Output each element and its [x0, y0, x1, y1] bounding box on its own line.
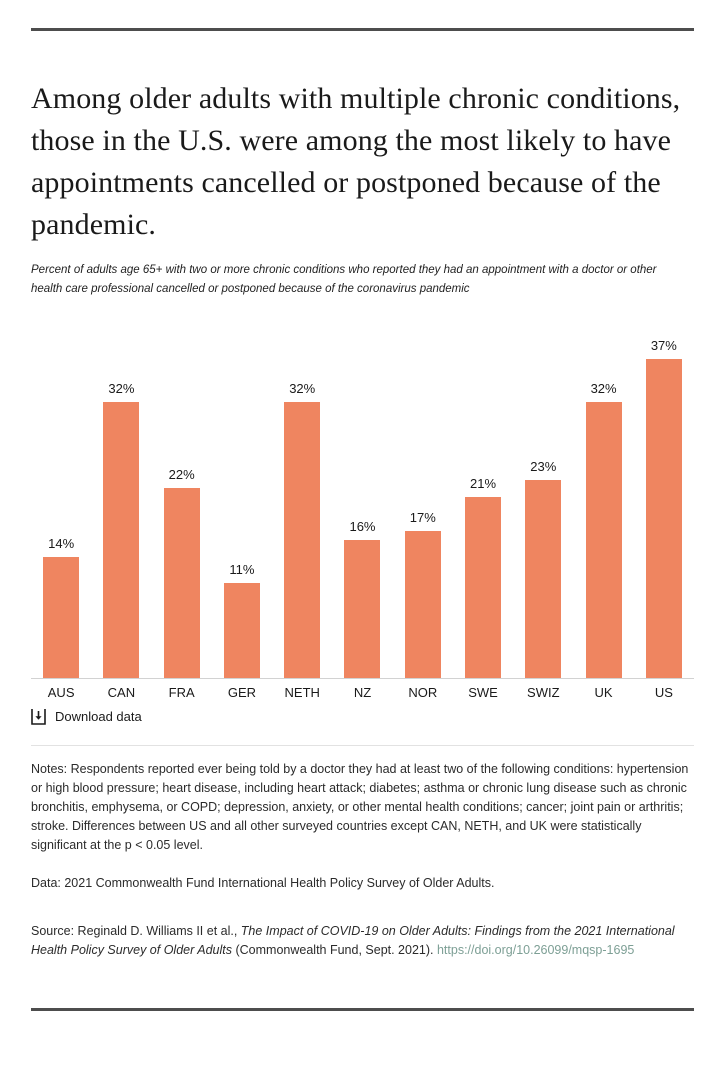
bar[interactable] [646, 359, 682, 678]
bar-group: 22% [152, 330, 212, 678]
bar[interactable] [344, 540, 380, 678]
x-tick-neth: NETH [272, 685, 332, 701]
bottom-divider [31, 1008, 694, 1011]
bar-value-label: 32% [289, 381, 315, 396]
download-data-label: Download data [55, 709, 142, 724]
x-tick-nz: NZ [332, 685, 392, 701]
x-tick-us: US [634, 685, 694, 701]
download-data-button[interactable]: Download data [31, 708, 142, 725]
bar-group: 17% [393, 330, 453, 678]
bar-value-label: 23% [530, 459, 556, 474]
download-icon [31, 708, 46, 725]
chart-notes: Notes: Respondents reported ever being t… [31, 760, 691, 855]
chart-subtitle: Percent of adults age 65+ with two or mo… [31, 261, 671, 298]
x-tick-nor: NOR [393, 685, 453, 701]
x-tick-swiz: SWIZ [513, 685, 573, 701]
bar-group: 11% [212, 330, 272, 678]
bar[interactable] [284, 402, 320, 678]
bar[interactable] [224, 583, 260, 678]
citation-suffix: (Commonwealth Fund, Sept. 2021). [232, 943, 437, 957]
bar-value-label: 16% [349, 519, 375, 534]
page-title: Among older adults with multiple chronic… [31, 78, 681, 246]
bar-value-label: 32% [108, 381, 134, 396]
bar-value-label: 11% [229, 562, 254, 577]
x-tick-aus: AUS [31, 685, 91, 701]
bar[interactable] [103, 402, 139, 678]
bar-series: 14%32%22%11%32%16%17%21%23%32%37% [31, 330, 694, 678]
bar-group: 32% [91, 330, 151, 678]
bar-chart: 14%32%22%11%32%16%17%21%23%32%37% AUSCAN… [31, 330, 694, 710]
chart-page: Among older adults with multiple chronic… [0, 0, 725, 1072]
bar[interactable] [586, 402, 622, 678]
x-tick-ger: GER [212, 685, 272, 701]
x-tick-swe: SWE [453, 685, 513, 701]
bar[interactable] [465, 497, 501, 678]
x-tick-fra: FRA [152, 685, 212, 701]
bar-group: 23% [513, 330, 573, 678]
bar-value-label: 17% [410, 510, 436, 525]
bar-value-label: 21% [470, 476, 496, 491]
bar-group: 37% [634, 330, 694, 678]
bar[interactable] [43, 557, 79, 678]
bar-group: 16% [332, 330, 392, 678]
bar[interactable] [405, 531, 441, 678]
bar-value-label: 32% [591, 381, 617, 396]
chart-citation: Source: Reginald D. Williams II et al., … [31, 922, 681, 960]
citation-prefix: Source: Reginald D. Williams II et al., [31, 924, 241, 938]
plot-area: 14%32%22%11%32%16%17%21%23%32%37% [31, 330, 694, 678]
bar-group: 14% [31, 330, 91, 678]
doi-link[interactable]: https://doi.org/10.26099/mqsp-1695 [437, 943, 634, 957]
x-tick-uk: UK [573, 685, 633, 701]
chart-data-source: Data: 2021 Commonwealth Fund Internation… [31, 874, 691, 893]
bar-group: 32% [272, 330, 332, 678]
bar[interactable] [164, 488, 200, 678]
bar-group: 21% [453, 330, 513, 678]
bar-value-label: 37% [651, 338, 677, 353]
x-tick-can: CAN [91, 685, 151, 701]
top-divider [31, 28, 694, 31]
x-axis-line [31, 678, 694, 679]
bar-value-label: 22% [169, 467, 195, 482]
bar-value-label: 14% [48, 536, 74, 551]
footer-divider [31, 745, 694, 746]
bar-group: 32% [573, 330, 633, 678]
bar[interactable] [525, 480, 561, 678]
